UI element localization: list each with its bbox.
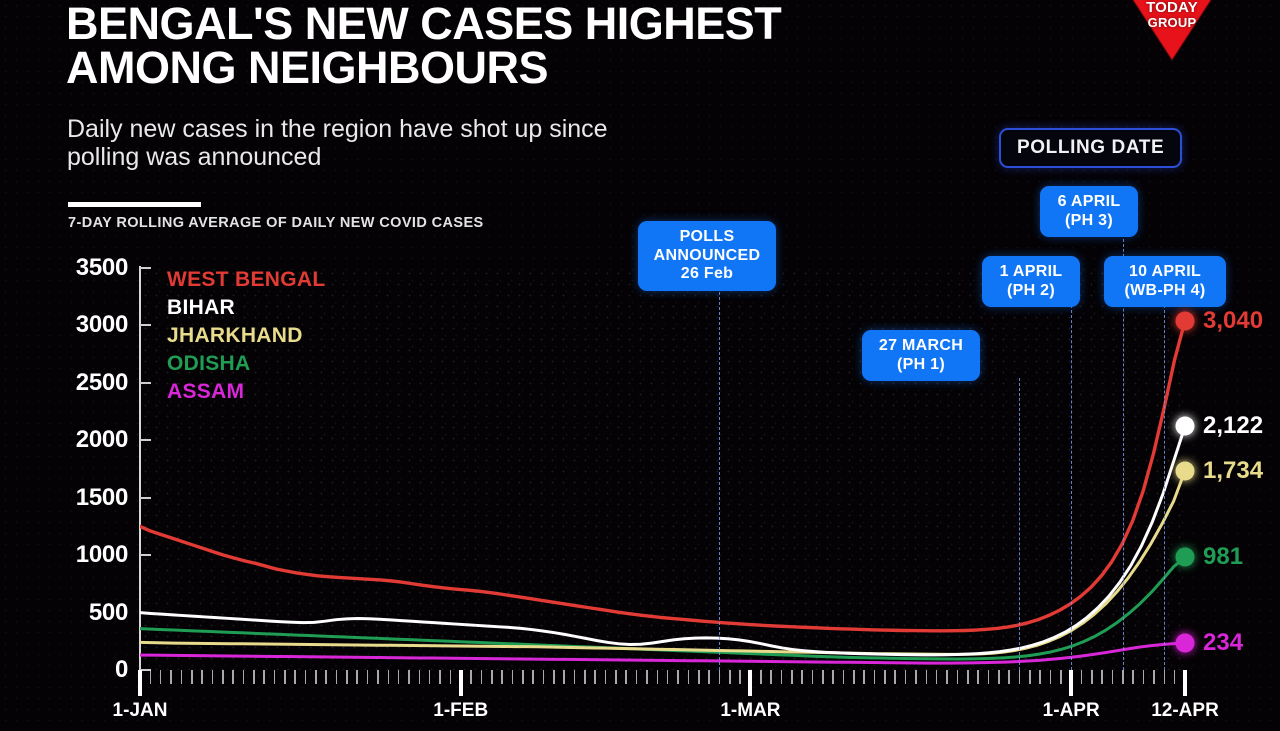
x-tick-minor xyxy=(398,670,400,684)
x-tick-minor xyxy=(212,670,214,684)
x-tick-minor xyxy=(688,670,690,684)
x-tick-major xyxy=(1069,670,1073,696)
endpoint-value-label: 234 xyxy=(1203,629,1243,657)
divider xyxy=(68,202,201,207)
x-tick-minor xyxy=(253,670,255,684)
x-tick-minor xyxy=(957,670,959,684)
x-tick-minor xyxy=(988,670,990,684)
annotation-guide-line xyxy=(1019,378,1020,670)
series-legend: WEST BENGALBIHARJHARKHANDODISHAASSAM xyxy=(167,266,325,406)
annotation-line: 1 APRIL xyxy=(993,263,1069,282)
y-tick-label: 500 xyxy=(8,599,128,627)
annotation-guide-line xyxy=(1164,305,1165,670)
x-tick-minor xyxy=(1101,670,1103,684)
x-tick-minor xyxy=(905,670,907,684)
x-tick-minor xyxy=(1122,670,1124,684)
x-tick-minor xyxy=(698,670,700,684)
x-tick-minor xyxy=(801,670,803,684)
endpoint-dot xyxy=(1176,311,1195,330)
x-tick-minor xyxy=(1081,670,1083,684)
x-tick-minor xyxy=(532,670,534,684)
x-tick-minor xyxy=(201,670,203,684)
endpoint-value-label: 981 xyxy=(1203,543,1243,571)
x-tick-minor xyxy=(863,670,865,684)
x-tick-minor xyxy=(594,670,596,684)
endpoint-value-label: 1,734 xyxy=(1203,457,1263,485)
x-tick-minor xyxy=(160,670,162,684)
x-tick-minor xyxy=(1060,670,1062,684)
annotation-polls-announced: POLLSANNOUNCED26 Feb xyxy=(638,221,776,291)
x-tick-major xyxy=(1183,670,1187,696)
x-tick-minor xyxy=(512,670,514,684)
annotation-line: (PH 1) xyxy=(873,356,969,375)
x-tick-minor xyxy=(439,670,441,684)
x-tick-minor xyxy=(915,670,917,684)
x-tick-minor xyxy=(781,670,783,684)
annotation-line: 6 APRIL xyxy=(1051,193,1127,212)
endpoint-dot xyxy=(1176,417,1195,436)
endpoint-dot xyxy=(1176,461,1195,480)
y-tick-label: 0 xyxy=(8,656,128,684)
x-tick-minor xyxy=(843,670,845,684)
y-tick-label: 3000 xyxy=(8,311,128,339)
x-tick-minor xyxy=(1008,670,1010,684)
x-tick-major xyxy=(748,670,752,696)
x-tick-minor xyxy=(501,670,503,684)
x-tick-minor xyxy=(429,670,431,684)
endpoint-dot xyxy=(1176,548,1195,567)
x-tick-minor xyxy=(191,670,193,684)
x-tick-minor xyxy=(305,670,307,684)
x-tick-minor xyxy=(677,670,679,684)
annotation-line: (PH 3) xyxy=(1051,212,1127,231)
x-tick-minor xyxy=(708,670,710,684)
x-tick-minor xyxy=(615,670,617,684)
x-tick-minor xyxy=(388,670,390,684)
x-tick-minor xyxy=(791,670,793,684)
annotation-line: (PH 2) xyxy=(993,282,1069,301)
x-tick-minor xyxy=(874,670,876,684)
today-group-logo: TODAY GROUP xyxy=(1124,0,1220,82)
logo-line-2: GROUP xyxy=(1124,16,1220,30)
subtitle: Daily new cases in the region have shot … xyxy=(67,115,847,171)
x-tick-label: 1-JAN xyxy=(113,700,168,722)
y-tick-label: 3500 xyxy=(8,254,128,282)
annotation-line: 27 MARCH xyxy=(873,337,969,356)
endpoint-dot xyxy=(1176,634,1195,653)
x-tick-minor xyxy=(1039,670,1041,684)
x-tick-minor xyxy=(346,670,348,684)
x-tick-minor xyxy=(946,670,948,684)
y-tick-label: 1500 xyxy=(8,484,128,512)
x-tick-minor xyxy=(408,670,410,684)
x-tick-minor xyxy=(574,670,576,684)
x-tick-minor xyxy=(284,670,286,684)
endpoint-value-label: 2,122 xyxy=(1203,412,1263,440)
logo-text: TODAY GROUP xyxy=(1124,0,1220,29)
legend-item-jharkhand: JHARKHAND xyxy=(167,322,325,350)
y-tick-label: 2500 xyxy=(8,369,128,397)
logo-line-1: TODAY xyxy=(1124,0,1220,16)
annotation-ph1: 27 MARCH(PH 1) xyxy=(862,330,980,381)
chart-kicker: 7-DAY ROLLING AVERAGE OF DAILY NEW COVID… xyxy=(68,215,484,231)
x-tick-minor xyxy=(563,670,565,684)
x-tick-minor xyxy=(263,670,265,684)
series-line xyxy=(140,471,1185,655)
annotation-line: POLLS xyxy=(649,228,765,247)
subtitle-line-1: Daily new cases in the region have shot … xyxy=(67,115,847,143)
annotation-ph2: 1 APRIL(PH 2) xyxy=(982,256,1080,307)
annotation-ph4: 10 APRIL(WB-PH 4) xyxy=(1104,256,1226,307)
legend-item-west-bengal: WEST BENGAL xyxy=(167,266,325,294)
y-tick-label: 2000 xyxy=(8,426,128,454)
x-tick-minor xyxy=(481,670,483,684)
x-tick-minor xyxy=(853,670,855,684)
x-tick-minor xyxy=(243,670,245,684)
x-tick-minor xyxy=(325,670,327,684)
x-tick-minor xyxy=(491,670,493,684)
page-title: BENGAL'S NEW CASES HIGHEST AMONG NEIGHBO… xyxy=(66,2,1026,90)
x-tick-minor xyxy=(667,670,669,684)
x-tick-minor xyxy=(636,670,638,684)
x-tick-minor xyxy=(522,670,524,684)
x-tick-label: 1-APR xyxy=(1043,700,1100,722)
x-tick-minor xyxy=(760,670,762,684)
x-tick-minor xyxy=(315,670,317,684)
x-tick-label: 12-APR xyxy=(1151,700,1219,722)
annotation-guide-line xyxy=(1071,305,1072,670)
x-tick-minor xyxy=(936,670,938,684)
annotation-line: (WB-PH 4) xyxy=(1115,282,1215,301)
annotation-guide-line xyxy=(719,292,720,670)
x-tick-minor xyxy=(1050,670,1052,684)
annotation-line: ANNOUNCED xyxy=(649,247,765,266)
x-tick-minor xyxy=(222,670,224,684)
x-tick-minor xyxy=(1143,670,1145,684)
headline-line-2: AMONG NEIGHBOURS xyxy=(66,46,1026,90)
x-tick-minor xyxy=(884,670,886,684)
x-tick-minor xyxy=(232,670,234,684)
x-tick-minor xyxy=(450,670,452,684)
x-tick-minor xyxy=(625,670,627,684)
x-tick-minor xyxy=(1153,670,1155,684)
x-tick-minor xyxy=(1174,670,1176,684)
x-tick-minor xyxy=(1164,670,1166,684)
x-tick-minor xyxy=(729,670,731,684)
x-tick-minor xyxy=(1091,670,1093,684)
x-tick-minor xyxy=(584,670,586,684)
x-tick-minor xyxy=(377,670,379,684)
x-tick-minor xyxy=(719,670,721,684)
x-tick-minor xyxy=(739,670,741,684)
x-tick-minor xyxy=(1112,670,1114,684)
polling-date-key: POLLING DATE xyxy=(999,128,1182,168)
x-tick-minor xyxy=(419,670,421,684)
x-tick-minor xyxy=(1132,670,1134,684)
subtitle-line-2: polling was announced xyxy=(67,143,847,171)
x-tick-minor xyxy=(356,670,358,684)
legend-item-assam: ASSAM xyxy=(167,378,325,406)
x-tick-minor xyxy=(812,670,814,684)
annotation-line: 26 Feb xyxy=(649,265,765,284)
annotation-ph3: 6 APRIL(PH 3) xyxy=(1040,186,1138,237)
x-tick-minor xyxy=(926,670,928,684)
x-tick-minor xyxy=(977,670,979,684)
y-tick-label: 1000 xyxy=(8,541,128,569)
infographic-root: BENGAL'S NEW CASES HIGHEST AMONG NEIGHBO… xyxy=(0,0,1280,731)
x-tick-minor xyxy=(605,670,607,684)
x-tick-minor xyxy=(894,670,896,684)
x-tick-minor xyxy=(181,670,183,684)
x-tick-minor xyxy=(543,670,545,684)
x-tick-minor xyxy=(150,670,152,684)
x-tick-major xyxy=(138,670,142,696)
x-tick-label: 1-MAR xyxy=(720,700,780,722)
x-tick-minor xyxy=(1019,670,1021,684)
x-tick-minor xyxy=(170,670,172,684)
x-tick-minor xyxy=(832,670,834,684)
x-tick-minor xyxy=(967,670,969,684)
x-tick-minor xyxy=(657,670,659,684)
x-tick-minor xyxy=(553,670,555,684)
endpoint-value-label: 3,040 xyxy=(1203,307,1263,335)
x-tick-label: 1-FEB xyxy=(433,700,488,722)
x-tick-minor xyxy=(367,670,369,684)
annotation-line: 10 APRIL xyxy=(1115,263,1215,282)
x-tick-minor xyxy=(1029,670,1031,684)
legend-item-odisha: ODISHA xyxy=(167,350,325,378)
legend-item-bihar: BIHAR xyxy=(167,294,325,322)
x-tick-major xyxy=(459,670,463,696)
x-tick-minor xyxy=(646,670,648,684)
x-tick-minor xyxy=(770,670,772,684)
x-tick-minor xyxy=(274,670,276,684)
x-tick-minor xyxy=(470,670,472,684)
x-axis-ticks xyxy=(140,670,1185,696)
x-tick-minor xyxy=(998,670,1000,684)
x-tick-minor xyxy=(294,670,296,684)
series-line xyxy=(140,426,1185,655)
x-tick-minor xyxy=(822,670,824,684)
x-tick-minor xyxy=(336,670,338,684)
